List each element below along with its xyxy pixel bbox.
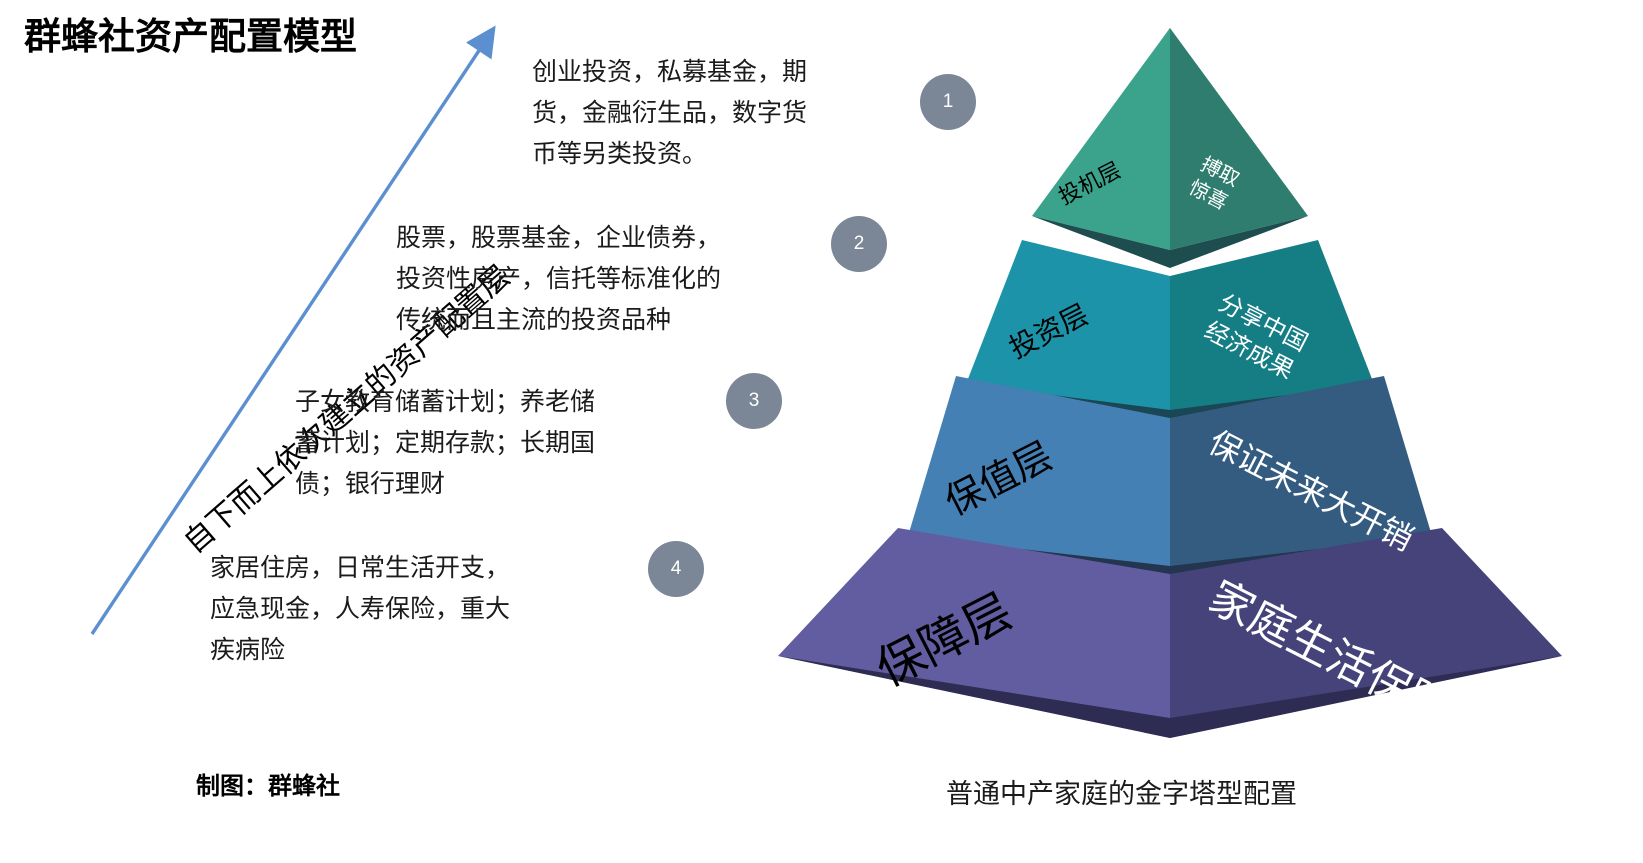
description-block-2: 股票，股票基金，企业债券， 投资性房产，信托等标准化的 传统而且主流的投资品种 — [396, 218, 796, 341]
step-badge-4: 4 — [648, 541, 704, 597]
pyramid-layer-1-right — [1170, 28, 1308, 250]
pyramid-diagram: 投机层 搏取 惊喜 投资层 分享中国 经济成果 保值层 保证未来大开销 保障层 … — [760, 18, 1580, 748]
pyramid-layer-1-leftface — [1032, 28, 1170, 250]
pyramid-shape — [760, 18, 1580, 748]
credit-text: 制图：群蜂社 — [196, 766, 340, 801]
description-block-3: 子女教育储蓄计划；养老储 蓄计划；定期存款；长期国 债；银行理财 — [295, 382, 670, 505]
slide-canvas: 群蜂社资产配置模型 自下而上依次建立的资产配置层 创业投资，私募基金，期 货，金… — [0, 0, 1643, 863]
pyramid-caption: 普通中产家庭的金字塔型配置 — [946, 772, 1297, 811]
description-block-4: 家居住房，日常生活开支， 应急现金，人寿保险，重大 疾病险 — [210, 548, 585, 671]
